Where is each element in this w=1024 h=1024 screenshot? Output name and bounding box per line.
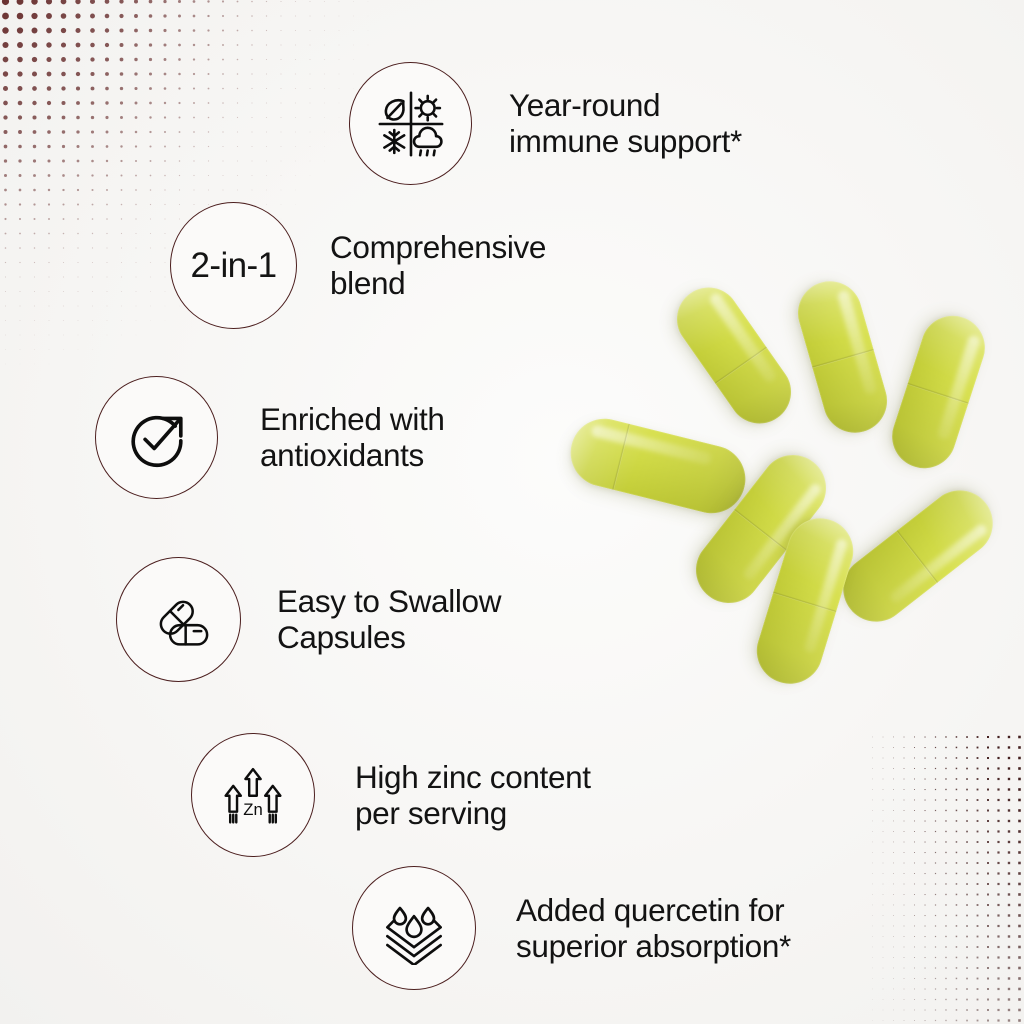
- capsule: [884, 307, 993, 476]
- badge-text: 2-in-1: [191, 248, 277, 283]
- infographic-canvas: Year-round immune support* 2-in-1 Compre…: [0, 0, 1024, 1024]
- feature-label: Comprehensive blend: [330, 229, 546, 301]
- zinc-up-arrows-icon: Zn: [191, 733, 315, 857]
- feature-item-high-zinc-content: Zn High zinc content per serving: [191, 733, 591, 857]
- feature-label: Easy to Swallow Capsules: [277, 583, 501, 655]
- feature-item-enriched-antioxidants: Enriched with antioxidants: [95, 376, 445, 499]
- yellow-green-capsules-photo: [560, 300, 1024, 730]
- two-in-one-text-icon: 2-in-1: [170, 202, 297, 329]
- feature-item-added-quercetin: Added quercetin for superior absorption*: [352, 866, 791, 990]
- four-seasons-icon: [349, 62, 472, 185]
- capsule: [790, 274, 894, 441]
- zinc-symbol-text: Zn: [243, 800, 263, 819]
- capsule: [563, 411, 752, 520]
- feature-label: Added quercetin for superior absorption*: [516, 892, 791, 964]
- droplets-layers-icon: [352, 866, 476, 990]
- feature-label: Enriched with antioxidants: [260, 401, 445, 473]
- feature-item-year-round-immune-support: Year-round immune support*: [349, 62, 742, 185]
- two-capsules-icon: [116, 557, 241, 682]
- feature-item-comprehensive-blend: 2-in-1 Comprehensive blend: [170, 202, 546, 329]
- capsule: [665, 275, 804, 436]
- feature-label: Year-round immune support*: [509, 87, 742, 159]
- feature-label: High zinc content per serving: [355, 759, 591, 831]
- feature-item-easy-to-swallow-capsules: Easy to Swallow Capsules: [116, 557, 501, 682]
- halftone-decoration-bottom-right: [754, 734, 1024, 1024]
- capsule: [830, 477, 1006, 635]
- arrow-check-circle-icon: [95, 376, 218, 499]
